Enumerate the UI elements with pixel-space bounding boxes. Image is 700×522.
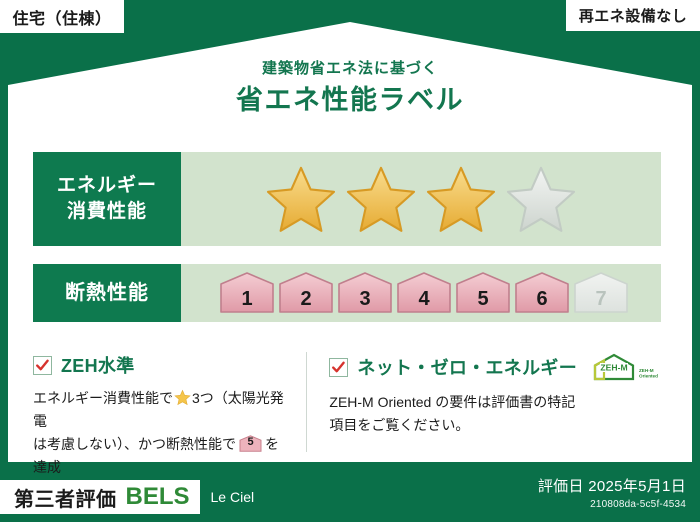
zeh-m-logo: ZEH-M ZEH-M Oriented [591,352,661,382]
title-block: 建築物省エネ法に基づく 省エネ性能ラベル [0,60,700,116]
nze-desc-line2: 項目をご覧ください。 [329,417,469,433]
insulation-grade-number: 4 [418,288,429,315]
insulation-performance-label-box: 断熱性能 [33,264,181,322]
energy-performance-row: エネルギー 消費性能 [33,152,661,246]
insulation-grade-3: 3 [337,271,393,315]
insulation-badge-icon: 5 [239,435,262,452]
insulation-performance-row: 断熱性能 1234567 [33,264,661,322]
zeh-m-logo-text: ZEH-M [600,362,627,372]
criteria-zeh-header: ZEH水準 [33,352,290,378]
insulation-grade-1: 1 [219,271,275,315]
insulation-grade-5: 5 [455,271,511,315]
building-type-tag-label: 住宅（住棟） [12,5,111,29]
insulation-grade-4: 4 [396,271,452,315]
zeh-desc-part1: エネルギー消費性能で [33,390,173,406]
zeh-checkbox[interactable] [33,356,52,375]
bels-jp-label: 第三者評価 [14,483,117,512]
energy-performance-label: 住宅（住棟） 再エネ設備なし 建築物省エネ法に基づく 省エネ性能ラベル エネルギ… [0,0,700,522]
insulation-grade-6: 6 [514,271,570,315]
insulation-grade-number: 6 [536,288,547,315]
zeh-desc-part2: は考慮しない）、かつ断熱性能で [33,436,236,452]
insulation-grade-2: 2 [278,271,334,315]
insulation-grade-number: 5 [477,288,488,315]
building-type-tag: 住宅（住棟） [0,0,124,33]
star-icon-filled [424,163,498,235]
insulation-label: 断熱性能 [65,280,149,307]
criteria-nze-column: ネット・ゼロ・エネルギー ZEH-M ZEH-M Oriented ZEH-M … [306,352,661,452]
renewable-energy-tag: 再エネ設備なし [566,0,700,31]
footer-left: 第三者評価 BELS Le Ciel [0,480,254,514]
insulation-grade-panel: 1234567 [181,264,661,322]
insulation-grade-number: 3 [359,288,370,315]
energy-performance-label-box: エネルギー 消費性能 [33,152,181,246]
insulation-grade-7: 7 [573,271,629,315]
star-icon-filled [344,163,418,235]
insulation-grade-number: 7 [595,288,606,315]
star-icon-empty [504,163,578,235]
company-name: Le Ciel [211,489,255,505]
title-subtitle: 建築物省エネ法に基づく [0,60,700,78]
zeh-description: エネルギー消費性能で3つ（太陽光発電 は考慮しない）、かつ断熱性能で5を達成 [33,387,290,479]
zeh-m-oriented-caption: ZEH-M Oriented [639,366,661,382]
check-icon [35,358,50,373]
evaluation-id: 210808da-5c5f-4534 [538,499,686,510]
nze-desc-line1: ZEH-M Oriented の要件は評価書の特記 [329,394,575,410]
criteria-section: ZEH水準 エネルギー消費性能で3つ（太陽光発電 は考慮しない）、かつ断熱性能で… [33,352,661,452]
criteria-zeh-column: ZEH水準 エネルギー消費性能で3つ（太陽光発電 は考慮しない）、かつ断熱性能で… [33,352,306,452]
energy-label-line2: 消費性能 [67,199,147,225]
bels-en-label: BELS [126,483,190,511]
zeh-m-house-icon: ZEH-M [591,352,637,382]
insulation-badge-value: 5 [239,433,262,451]
svg-text:Oriented: Oriented [639,374,658,379]
insulation-grade-number: 1 [241,288,252,315]
page-title: 省エネ性能ラベル [0,84,700,116]
star-icon [174,389,191,406]
criteria-nze-header: ネット・ゼロ・エネルギー ZEH-M ZEH-M Oriented [329,352,661,382]
nze-checkbox[interactable] [329,358,348,377]
renewable-energy-tag-label: 再エネ設備なし [579,5,688,26]
check-icon [331,360,346,375]
bels-badge: 第三者評価 BELS [0,480,200,514]
star-icon-filled [264,163,338,235]
energy-label-line1: エネルギー [57,173,157,199]
evaluation-date: 評価日 2025年5月1日 [538,475,686,496]
star-rating-panel [181,152,661,246]
insulation-grade-number: 2 [300,288,311,315]
nze-description: ZEH-M Oriented の要件は評価書の特記 項目をご覧ください。 [329,391,661,437]
nze-title: ネット・ゼロ・エネルギー [357,354,577,380]
svg-text:ZEH-M: ZEH-M [639,368,654,373]
footer-right: 評価日 2025年5月1日 210808da-5c5f-4534 [538,475,686,510]
zeh-title: ZEH水準 [61,352,135,378]
